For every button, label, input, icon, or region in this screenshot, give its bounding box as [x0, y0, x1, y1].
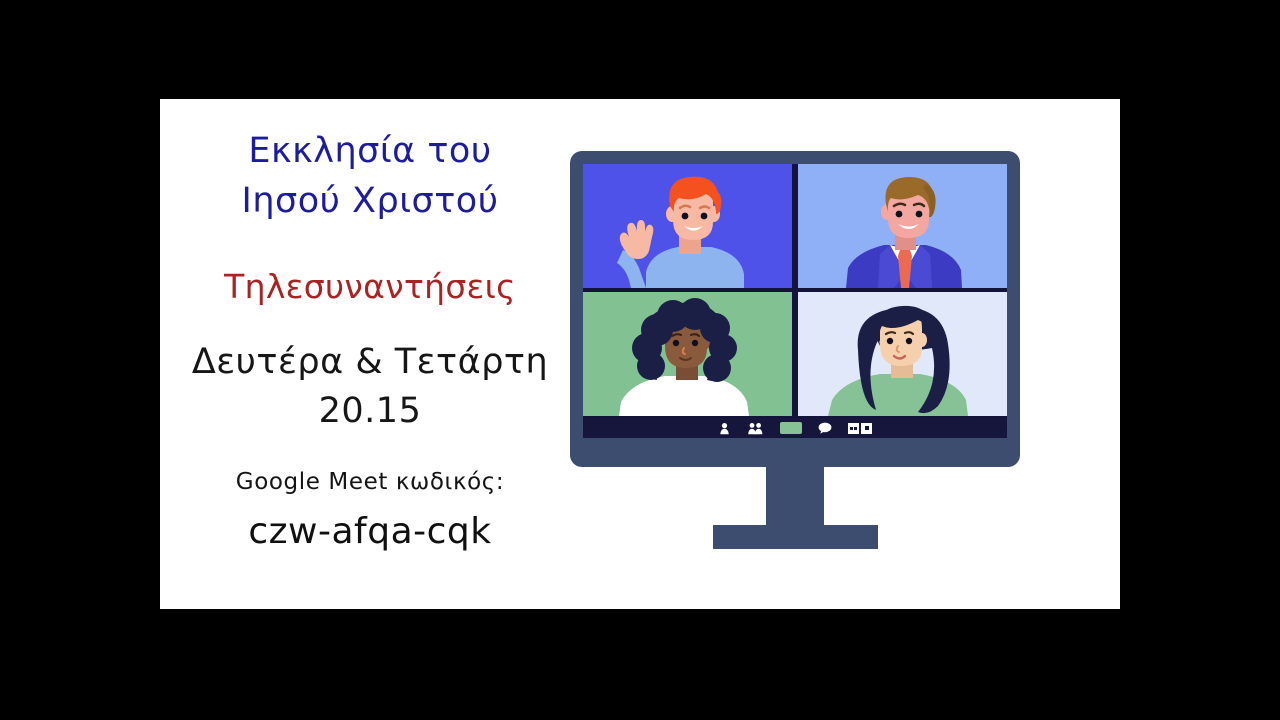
- monitor-stand-base: [713, 525, 878, 549]
- flyer-card: Εκκλησία του Ιησού Χριστού Τηλεσυναντήσε…: [160, 99, 1120, 609]
- meet-code-label: Google Meet κωδικός:: [160, 469, 580, 495]
- participant-avatar-longhair: [798, 292, 1007, 416]
- monitor-screen: [583, 164, 1007, 438]
- chat-bubble-icon[interactable]: [818, 422, 832, 434]
- participant-tile-bottom-left: [583, 292, 792, 416]
- text-column: Εκκλησία του Ιησού Χριστού Τηλεσυναντήσε…: [160, 99, 580, 609]
- poster-canvas: Εκκλησία του Ιησού Χριστού Τηλεσυναντήσε…: [0, 0, 1280, 720]
- participant-avatar-curly: [583, 292, 792, 416]
- monitor-bezel: [570, 151, 1020, 467]
- participant-avatar-suit: [798, 164, 1007, 288]
- participant-tile-top-right: [798, 164, 1007, 288]
- meeting-toolbar: [583, 418, 1007, 438]
- participant-avatar-waving: [583, 164, 792, 288]
- title-line-1: Εκκλησία του: [160, 131, 580, 171]
- participant-icon[interactable]: [718, 422, 731, 435]
- schedule-time: 20.15: [160, 391, 580, 431]
- schedule-days: Δευτέρα & Τετάρτη: [160, 342, 580, 382]
- subtitle-text: Τηλεσυναντήσεις: [160, 267, 580, 306]
- monitor-stand-neck: [766, 465, 824, 531]
- video-call-illustration: [570, 151, 1030, 566]
- screen-share-icon[interactable]: [780, 422, 802, 434]
- layout-view-icon[interactable]: [848, 423, 872, 434]
- meet-code-value: czw-afqa-cqk: [160, 511, 580, 552]
- participant-tile-bottom-right: [798, 292, 1007, 416]
- participants-group-icon[interactable]: [747, 422, 764, 435]
- title-line-2: Ιησού Χριστού: [160, 181, 580, 221]
- participant-tile-top-left: [583, 164, 792, 288]
